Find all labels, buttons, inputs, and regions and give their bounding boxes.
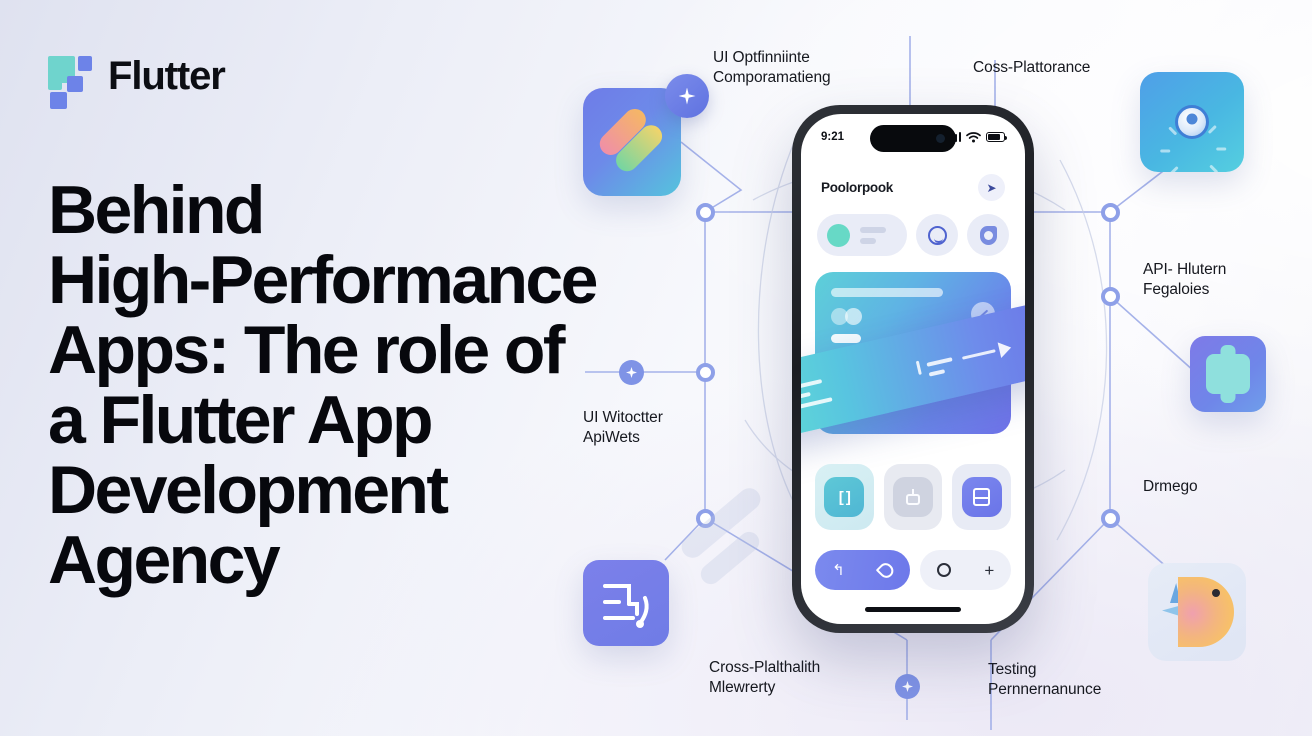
droplet-icon [876,560,897,581]
dynamic-island [870,125,956,152]
node-label-ui-widgets: UI Witoctter ApiWets [583,408,723,448]
placeholder-lines [860,227,897,244]
connector-node [1101,203,1120,222]
brand-name: Flutter [108,54,225,99]
chip-clock[interactable] [916,214,958,256]
wifi-icon [966,132,981,143]
ghost-pill-button[interactable]: + [920,550,1011,590]
phone-mockup: 9:21 Poolorpook ➤ [792,105,1034,633]
flutter-chevron-icon [590,102,675,187]
avatar-dot-icon [827,224,850,247]
radial-card[interactable] [1140,72,1244,172]
sparkle-node-icon [895,674,920,699]
button-row: ↰ + [815,550,1011,590]
send-icon[interactable]: ➤ [978,174,1005,201]
sparkle-badge-icon [665,74,709,118]
book-icon [962,477,1002,517]
tile-robot[interactable] [884,464,943,530]
tile-row: [ ] [815,464,1011,530]
puzzle-card[interactable] [1190,336,1266,412]
node-label-cross-health: Cross-Plalthalith Mlewrerty [709,658,879,698]
connector-node [696,203,715,222]
chip-shield[interactable] [967,214,1009,256]
puzzle-piece-icon [1206,354,1250,394]
node-label-api-flutter: API- Hlutern Fegaloies [1143,260,1293,300]
battery-icon [986,132,1005,142]
flowchart-icon [583,560,669,646]
app-header: Poolorpook ➤ [801,174,1025,201]
sparkle-node-icon [619,360,644,385]
home-indicator [865,607,961,612]
chip-wide[interactable] [817,214,907,256]
node-label-ui-optimizing: UI Optfinniinte Comporamatieng [713,48,873,88]
bird-card[interactable] [1148,563,1246,661]
chip-row [817,214,1009,256]
code-brackets-icon: [ ] [824,477,864,517]
app-title: Poolorpook [821,180,893,195]
brand-lockup: Flutter [48,50,225,102]
back-arrow-icon: ↰ [832,561,845,579]
status-time: 9:21 [821,131,844,143]
plus-icon: + [984,562,994,579]
flutter-squares-logo-icon [48,50,92,102]
connector-node [696,363,715,382]
bird-illustration-icon [1178,577,1234,647]
flow-card[interactable] [583,560,669,646]
node-label-cross-platform: Coss-Plattorance [973,58,1153,78]
connector-node [1101,509,1120,528]
primary-pill-button[interactable]: ↰ [815,550,910,590]
clock-icon [928,226,947,245]
shield-icon [980,226,997,245]
circle-icon [937,563,951,577]
poster-canvas: Flutter Behind High-Performance Apps: Th… [0,0,1312,736]
node-label-drmego: Drmego [1143,477,1283,497]
radial-core-icon [1175,105,1209,139]
tile-brackets[interactable]: [ ] [815,464,874,530]
connector-node [1101,287,1120,306]
node-label-testing: Testing Pernnernanunce [988,660,1168,700]
bird-eye-icon [1212,589,1220,597]
phone-screen: 9:21 Poolorpook ➤ [801,114,1025,624]
network-diagram: UI Optfinniinte Comporamatieng Coss-Plat… [545,0,1312,736]
tile-book[interactable] [952,464,1011,530]
robot-icon [893,477,933,517]
